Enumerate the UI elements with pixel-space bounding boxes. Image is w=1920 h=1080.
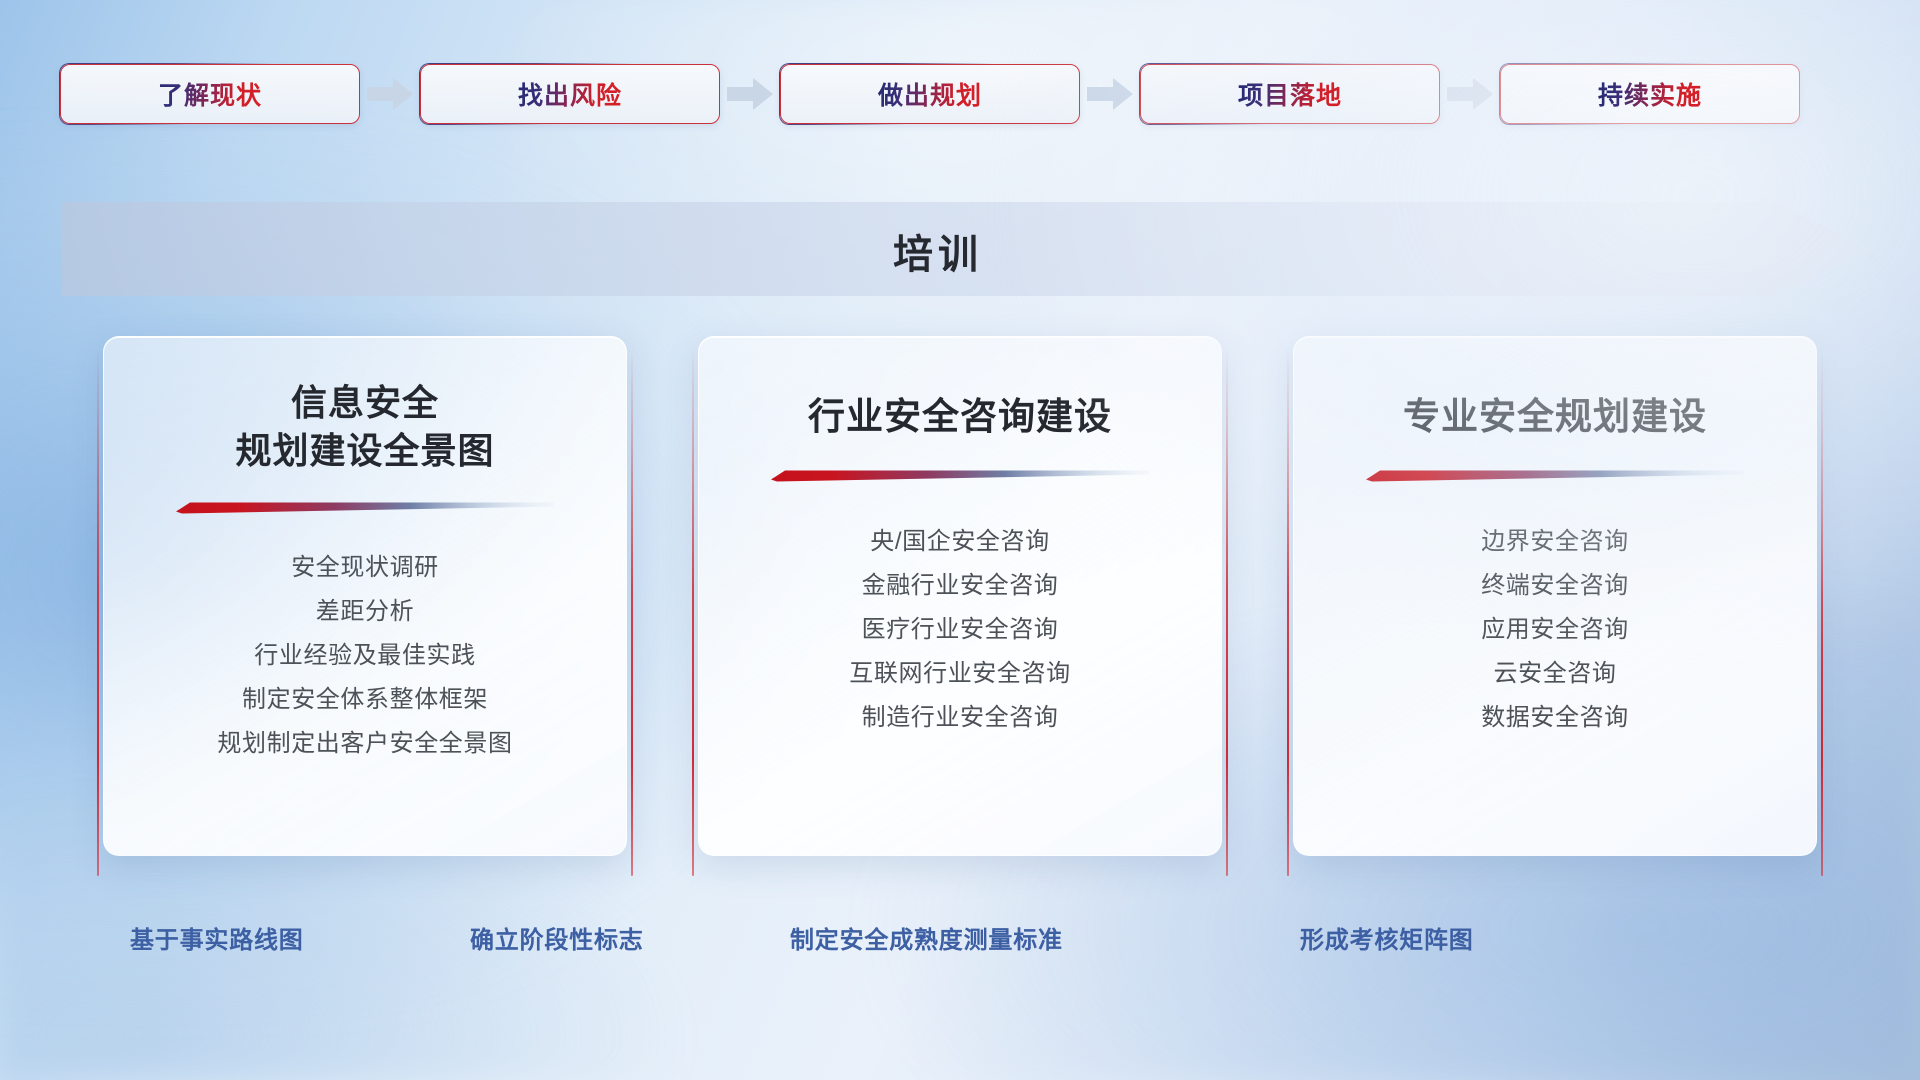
card-information-security-blueprint[interactable]: 信息安全 规划建设全景图 <box>103 336 627 856</box>
step-label: 找出风险 <box>518 76 622 112</box>
card-title: 专业安全规划建设 <box>1403 393 1707 442</box>
step-chip-2[interactable]: 找出风险 <box>420 64 720 124</box>
training-banner-label: 培训 <box>62 222 1872 280</box>
list-item: 医疗行业安全咨询 <box>725 608 1195 652</box>
gradient-underline-icon <box>771 468 1149 484</box>
process-step-row: 了解现状 找出风险 做出规划 项目落地 <box>60 64 1860 124</box>
card-rail-right <box>1821 348 1823 876</box>
slide-canvas: 了解现状 找出风险 做出规划 项目落地 <box>0 0 1920 1080</box>
step-label: 项目落地 <box>1238 76 1342 112</box>
list-item: 应用安全咨询 <box>1320 608 1790 652</box>
card-rail-left <box>97 348 99 876</box>
arrow-right-icon <box>1442 72 1498 116</box>
card-title: 行业安全咨询建设 <box>808 393 1112 442</box>
arrow-right-icon <box>362 72 418 116</box>
list-item: 央/国企安全咨询 <box>725 520 1195 564</box>
footnote-label: 基于事实路线图 <box>130 920 304 955</box>
arrow-right-icon <box>722 72 778 116</box>
card-rail-right <box>631 348 633 876</box>
card-wrapper-2: 行业安全咨询建设 <box>690 336 1230 876</box>
card-title: 信息安全 规划建设全景图 <box>235 379 494 474</box>
footnote-row: 基于事实路线图 确立阶段性标志 制定安全成熟度测量标准 形成考核矩阵图 <box>0 920 1920 966</box>
card-wrapper-1: 信息安全 规划建设全景图 <box>95 336 635 876</box>
step-chip-1[interactable]: 了解现状 <box>60 64 360 124</box>
footnote-label: 制定安全成熟度测量标准 <box>790 920 1063 955</box>
footnote-label: 确立阶段性标志 <box>470 920 644 955</box>
card-wrapper-3: 专业安全规划建设 <box>1285 336 1825 876</box>
card-rail-right <box>1226 348 1228 876</box>
step-chip-3[interactable]: 做出规划 <box>780 64 1080 124</box>
card-item-list: 边界安全咨询 终端安全咨询 应用安全咨询 云安全咨询 数据安全咨询 <box>1320 520 1790 740</box>
card-rail-left <box>1287 348 1289 876</box>
arrow-right-icon <box>1082 72 1138 116</box>
step-label: 做出规划 <box>878 76 982 112</box>
footnote-label: 形成考核矩阵图 <box>1300 920 1474 955</box>
list-item: 边界安全咨询 <box>1320 520 1790 564</box>
list-item: 互联网行业安全咨询 <box>725 652 1195 696</box>
list-item: 金融行业安全咨询 <box>725 564 1195 608</box>
card-item-list: 央/国企安全咨询 金融行业安全咨询 医疗行业安全咨询 互联网行业安全咨询 制造行… <box>725 520 1195 740</box>
card-rail-left <box>692 348 694 876</box>
gradient-underline-icon <box>1366 468 1744 484</box>
list-item: 行业经验及最佳实践 <box>130 634 600 678</box>
list-item: 数据安全咨询 <box>1320 696 1790 740</box>
list-item: 终端安全咨询 <box>1320 564 1790 608</box>
list-item: 安全现状调研 <box>130 546 600 590</box>
list-item: 制定安全体系整体框架 <box>130 678 600 722</box>
step-chip-4[interactable]: 项目落地 <box>1140 64 1440 124</box>
card-item-list: 安全现状调研 差距分析 行业经验及最佳实践 制定安全体系整体框架 规划制定出客户… <box>130 546 600 766</box>
step-label: 了解现状 <box>158 76 262 112</box>
list-item: 规划制定出客户安全全景图 <box>130 722 600 766</box>
list-item: 差距分析 <box>130 590 600 634</box>
card-row: 信息安全 规划建设全景图 <box>0 336 1920 876</box>
card-industry-security-consulting[interactable]: 行业安全咨询建设 <box>698 336 1222 856</box>
gradient-underline-icon <box>176 500 554 516</box>
card-professional-security-planning[interactable]: 专业安全规划建设 <box>1293 336 1817 856</box>
training-banner: 培训 <box>62 196 1872 302</box>
step-chip-5[interactable]: 持续实施 <box>1500 64 1800 124</box>
list-item: 制造行业安全咨询 <box>725 696 1195 740</box>
list-item: 云安全咨询 <box>1320 652 1790 696</box>
step-label: 持续实施 <box>1598 76 1702 112</box>
